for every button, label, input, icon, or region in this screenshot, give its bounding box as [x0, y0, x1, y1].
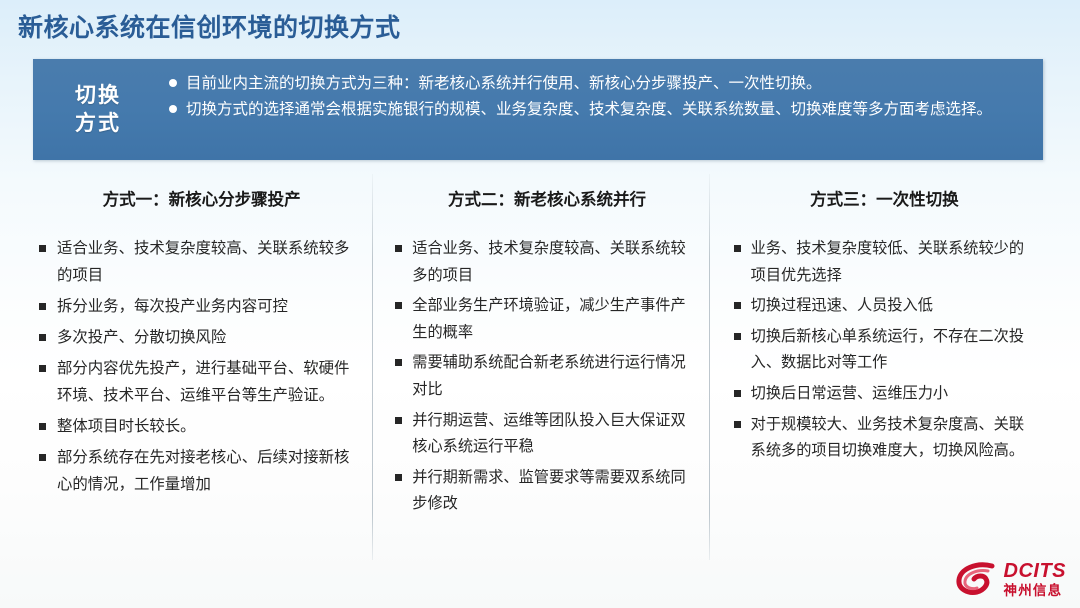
list-item: 切换后日常运营、运维压力小 [734, 381, 1035, 408]
banner-bullet: 切换方式的选择通常会根据实施银行的规模、业务复杂度、技术复杂度、关联系统数量、切… [169, 97, 1025, 122]
bullet-dot-icon [169, 105, 177, 113]
list-item-text: 切换后新核心单系统运行，不存在二次投入、数据比对等工作 [751, 324, 1035, 377]
list-item: 需要辅助系统配合新老系统进行运行情况对比 [395, 350, 698, 403]
list-item-text: 切换后日常运营、运维压力小 [751, 381, 1035, 408]
list-item-text: 并行期运营、运维等团队投入巨大保证双核心系统运行平稳 [412, 408, 698, 461]
column-method-two: 方式二：新老核心系统并行 适合业务、技术复杂度较高、关联系统较多的项目 全部业务… [373, 172, 708, 562]
column-heading: 方式三：一次性切换 [734, 186, 1035, 210]
bullet-square-icon [39, 454, 46, 461]
logo-wordmark: DCITS 神州信息 [1004, 561, 1067, 598]
bullet-square-icon [39, 423, 46, 430]
bullet-list: 适合业务、技术复杂度较高、关联系统较多的项目 全部业务生产环境验证，减少生产事件… [395, 236, 698, 518]
bullet-square-icon [39, 303, 46, 310]
list-item-text: 适合业务、技术复杂度较高、关联系统较多的项目 [57, 236, 364, 290]
list-item: 业务、技术复杂度较低、关联系统较少的项目优先选择 [734, 236, 1035, 289]
bullet-square-icon [734, 245, 741, 252]
list-item-text: 拆分业务，每次投产业务内容可控 [57, 294, 364, 321]
column-method-three: 方式三：一次性切换 业务、技术复杂度较低、关联系统较少的项目优先选择 切换过程迅… [710, 172, 1045, 562]
list-item-text: 部分系统存在先对接老核心、后续对接新核心的情况，工作量增加 [57, 445, 364, 499]
dcits-swirl-icon [956, 562, 998, 596]
list-item-text: 部分内容优先投产，进行基础平台、软硬件环境、技术平台、运维平台等生产验证。 [57, 356, 364, 410]
logo-name-en: DCITS [1004, 561, 1067, 581]
banner-bullet: 目前业内主流的切换方式为三种：新老核心系统并行使用、新核心分步骤投产、一次性切换… [169, 71, 1025, 96]
list-item-text: 切换过程迅速、人员投入低 [751, 293, 1035, 320]
list-item-text: 全部业务生产环境验证，减少生产事件产生的概率 [412, 293, 698, 346]
logo-name-cn: 神州信息 [1004, 584, 1067, 598]
banner-bullet-text: 目前业内主流的切换方式为三种：新老核心系统并行使用、新核心分步骤投产、一次性切换… [186, 71, 1025, 96]
banner-body: 目前业内主流的切换方式为三种：新老核心系统并行使用、新核心分步骤投产、一次性切换… [163, 59, 1043, 160]
list-item: 适合业务、技术复杂度较高、关联系统较多的项目 [39, 236, 364, 290]
bullet-square-icon [734, 333, 741, 340]
bullet-square-icon [734, 421, 741, 428]
list-item-text: 适合业务、技术复杂度较高、关联系统较多的项目 [412, 236, 698, 289]
list-item: 并行期运营、运维等团队投入巨大保证双核心系统运行平稳 [395, 408, 698, 461]
column-heading: 方式一：新核心分步骤投产 [39, 186, 364, 210]
bullet-square-icon [39, 334, 46, 341]
page-title: 新核心系统在信创环境的切换方式 [18, 8, 401, 44]
column-heading: 方式二：新老核心系统并行 [395, 186, 698, 210]
comparison-columns: 方式一：新核心分步骤投产 适合业务、技术复杂度较高、关联系统较多的项目 拆分业务… [33, 172, 1045, 562]
bullet-list: 适合业务、技术复杂度较高、关联系统较多的项目 拆分业务，每次投产业务内容可控 多… [39, 236, 364, 499]
bullet-square-icon [395, 302, 402, 309]
summary-banner: 切换 方式 目前业内主流的切换方式为三种：新老核心系统并行使用、新核心分步骤投产… [33, 59, 1043, 160]
list-item: 切换过程迅速、人员投入低 [734, 293, 1035, 320]
list-item: 部分内容优先投产，进行基础平台、软硬件环境、技术平台、运维平台等生产验证。 [39, 356, 364, 410]
bullet-dot-icon [169, 79, 177, 87]
list-item: 对于规模较大、业务技术复杂度高、关联系统多的项目切换难度大，切换风险高。 [734, 412, 1035, 465]
list-item-text: 多次投产、分散切换风险 [57, 325, 364, 352]
list-item-text: 并行期新需求、监管要求等需要双系统同步修改 [412, 465, 698, 518]
bullet-list: 业务、技术复杂度较低、关联系统较少的项目优先选择 切换过程迅速、人员投入低 切换… [734, 236, 1035, 465]
bullet-square-icon [395, 359, 402, 366]
list-item: 拆分业务，每次投产业务内容可控 [39, 294, 364, 321]
column-method-one: 方式一：新核心分步骤投产 适合业务、技术复杂度较高、关联系统较多的项目 拆分业务… [33, 172, 372, 562]
bullet-square-icon [734, 390, 741, 397]
bullet-square-icon [395, 474, 402, 481]
banner-label-line1: 切换 [75, 82, 121, 110]
list-item: 整体项目时长较长。 [39, 414, 364, 441]
list-item: 并行期新需求、监管要求等需要双系统同步修改 [395, 465, 698, 518]
list-item: 多次投产、分散切换风险 [39, 325, 364, 352]
list-item-text: 业务、技术复杂度较低、关联系统较少的项目优先选择 [751, 236, 1035, 289]
list-item: 切换后新核心单系统运行，不存在二次投入、数据比对等工作 [734, 324, 1035, 377]
list-item-text: 需要辅助系统配合新老系统进行运行情况对比 [412, 350, 698, 403]
list-item-text: 整体项目时长较长。 [57, 414, 364, 441]
bullet-square-icon [734, 302, 741, 309]
bullet-square-icon [39, 245, 46, 252]
bullet-square-icon [395, 417, 402, 424]
banner-bullet-text: 切换方式的选择通常会根据实施银行的规模、业务复杂度、技术复杂度、关联系统数量、切… [186, 97, 1025, 122]
bullet-square-icon [39, 365, 46, 372]
list-item: 适合业务、技术复杂度较高、关联系统较多的项目 [395, 236, 698, 289]
banner-label: 切换 方式 [33, 59, 163, 160]
list-item-text: 对于规模较大、业务技术复杂度高、关联系统多的项目切换难度大，切换风险高。 [751, 412, 1035, 465]
list-item: 部分系统存在先对接老核心、后续对接新核心的情况，工作量增加 [39, 445, 364, 499]
banner-label-line2: 方式 [75, 110, 121, 138]
list-item: 全部业务生产环境验证，减少生产事件产生的概率 [395, 293, 698, 346]
company-logo: DCITS 神州信息 [956, 558, 1067, 600]
bullet-square-icon [395, 245, 402, 252]
